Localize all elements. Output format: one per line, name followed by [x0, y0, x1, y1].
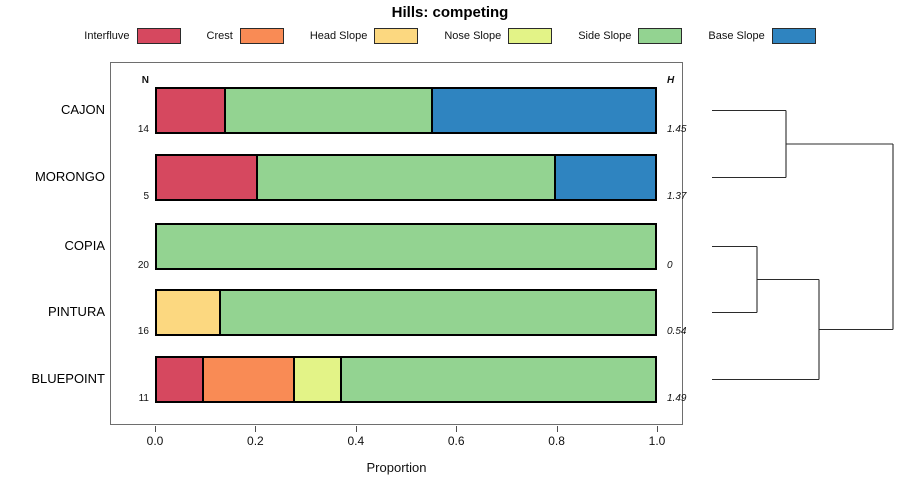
- bar-segment-base-slope[interactable]: [556, 156, 655, 199]
- x-axis-title: Proportion: [110, 460, 683, 475]
- legend-item-nose-slope: Nose Slope: [444, 28, 578, 44]
- legend-label: Side Slope: [578, 30, 638, 42]
- legend-swatch: [137, 28, 181, 44]
- bar-segment-interfluve[interactable]: [157, 358, 204, 401]
- dendrogram: [683, 62, 900, 425]
- x-tick: [657, 426, 658, 432]
- chart-title: Hills: competing: [0, 4, 900, 21]
- legend-swatch: [240, 28, 284, 44]
- bar-segment-side-slope[interactable]: [342, 358, 655, 401]
- legend-swatch: [508, 28, 552, 44]
- legend-swatch: [638, 28, 682, 44]
- row-label-morongo: MORONGO: [0, 169, 105, 184]
- legend-label: Base Slope: [708, 30, 771, 42]
- legend-label: Interfluve: [84, 30, 136, 42]
- x-tick: [356, 426, 357, 432]
- row-label-copia: COPIA: [0, 238, 105, 253]
- legend-label: Nose Slope: [444, 30, 508, 42]
- chart-root: Hills: competing InterfluveCrestHead Slo…: [0, 0, 900, 500]
- n-value-cajon: 14: [121, 124, 149, 135]
- x-tick-label: 1.0: [637, 434, 677, 448]
- x-tick: [155, 426, 156, 432]
- n-column-header: N: [121, 75, 149, 86]
- bar-segment-side-slope[interactable]: [226, 89, 434, 132]
- row-label-pintura: PINTURA: [0, 304, 105, 319]
- bar-segment-side-slope[interactable]: [157, 225, 655, 268]
- stacked-bar-bluepoint[interactable]: [155, 356, 657, 403]
- x-tick-label: 0.0: [135, 434, 175, 448]
- legend-label: Head Slope: [310, 30, 375, 42]
- legend-item-head-slope: Head Slope: [310, 28, 445, 44]
- bar-segment-interfluve[interactable]: [157, 156, 258, 199]
- bar-segment-side-slope[interactable]: [221, 291, 655, 334]
- n-value-morongo: 5: [121, 191, 149, 202]
- stacked-bar-pintura[interactable]: [155, 289, 657, 336]
- row-label-bluepoint: BLUEPOINT: [0, 371, 105, 386]
- x-tick: [255, 426, 256, 432]
- n-value-pintura: 16: [121, 326, 149, 337]
- x-tick: [456, 426, 457, 432]
- legend-item-crest: Crest: [207, 28, 310, 44]
- bar-segment-base-slope[interactable]: [433, 89, 655, 132]
- legend-label: Crest: [207, 30, 240, 42]
- legend-item-side-slope: Side Slope: [578, 28, 708, 44]
- bar-segment-interfluve[interactable]: [157, 89, 226, 132]
- x-tick-label: 0.8: [537, 434, 577, 448]
- stacked-bar-cajon[interactable]: [155, 87, 657, 134]
- legend-item-interfluve: Interfluve: [84, 28, 206, 44]
- n-value-copia: 20: [121, 260, 149, 271]
- legend-swatch: [374, 28, 418, 44]
- x-tick-label: 0.6: [436, 434, 476, 448]
- legend: InterfluveCrestHead SlopeNose SlopeSide …: [0, 28, 900, 44]
- legend-item-base-slope: Base Slope: [708, 28, 815, 44]
- dendrogram-svg: [683, 62, 900, 425]
- x-tick: [557, 426, 558, 432]
- bar-segment-crest[interactable]: [204, 358, 296, 401]
- stacked-bar-copia[interactable]: [155, 223, 657, 270]
- row-label-cajon: CAJON: [0, 102, 105, 117]
- n-value-bluepoint: 11: [121, 393, 149, 404]
- x-tick-label: 0.4: [336, 434, 376, 448]
- x-tick-label: 0.2: [235, 434, 275, 448]
- legend-swatch: [772, 28, 816, 44]
- bar-segment-nose-slope[interactable]: [295, 358, 342, 401]
- bar-segment-side-slope[interactable]: [258, 156, 556, 199]
- stacked-bar-morongo[interactable]: [155, 154, 657, 201]
- bar-segment-head-slope[interactable]: [157, 291, 221, 334]
